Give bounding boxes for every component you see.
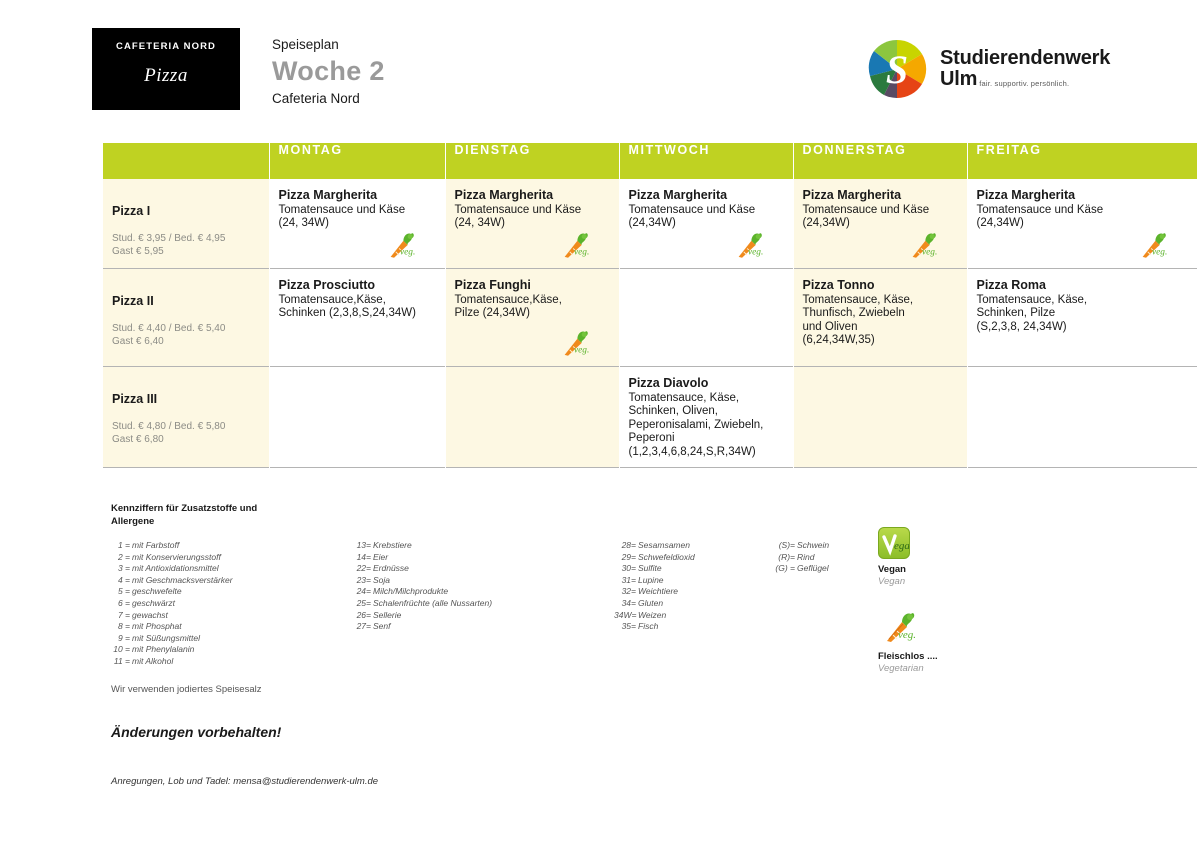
page-title: Woche 2 — [272, 56, 385, 87]
category-price: Stud. € 3,95 / Bed. € 4,95 Gast € 5,95 — [112, 232, 261, 258]
legend-item-label: Geflügel — [797, 563, 829, 573]
legend-item-code: 9 = — [113, 633, 130, 645]
legend-item: (R)=Rind — [773, 552, 829, 564]
dish-desc: Tomatensauce und Käse(24,34W) — [977, 204, 1190, 231]
svg-text:veg.: veg. — [574, 247, 589, 257]
svg-text:veg.: veg. — [400, 247, 415, 257]
legend-item-label: Eier — [373, 552, 388, 562]
page-subtitle: Cafeteria Nord — [272, 90, 385, 108]
legend-item-code: 11 = — [113, 656, 130, 668]
legend-item-label: Weizen — [638, 610, 666, 620]
vegan-key-block: egan Vegan Vegan — [878, 527, 1028, 588]
legend-item-code: 30= — [614, 563, 636, 575]
legend-item-label: Senf — [373, 621, 391, 631]
legend-item-code: 34= — [614, 598, 636, 610]
legend-item-code: 34W= — [614, 610, 636, 622]
legend-item-code: 25= — [354, 598, 371, 610]
legend-item-label: geschwärzt — [132, 598, 175, 608]
legend-item: 29=Schwefeldioxid — [614, 552, 695, 564]
legend-item-code: 4 = — [113, 575, 130, 587]
title-block: Speiseplan Woche 2 Cafeteria Nord — [272, 36, 385, 108]
logo-wordmark: Studierendenwerk Ulm fair. supportiv. pe… — [940, 48, 1110, 90]
legend-column-additives: 1 =mit Farbstoff2 =mit Konservierungssto… — [113, 540, 233, 668]
header-day-mittwoch: MITTWOCH — [619, 143, 793, 179]
price-line-1: Stud. € 4,80 / Bed. € 5,80 — [112, 421, 225, 432]
symbol-key: egan Vegan Vegan veg. Fleischlos .... Ve… — [878, 527, 1028, 695]
legend-item: 28=Sesamsamen — [614, 540, 695, 552]
legend-item-code: 22= — [354, 563, 371, 575]
menu-cell: Pizza Margherita Tomatensauce und Käse(2… — [793, 179, 967, 269]
legend-item-code: 8 = — [113, 621, 130, 633]
legend-item: 24=Milch/Milchprodukte — [354, 586, 492, 598]
legend-item-code: 7 = — [113, 610, 130, 622]
carrot-vegetarian-icon: veg. — [1135, 228, 1169, 262]
legend-item-label: mit Geschmacksverstärker — [132, 575, 233, 585]
legend-item-code: 1 = — [113, 540, 130, 552]
legend-item-code: 13= — [354, 540, 371, 552]
menu-cell — [793, 367, 967, 468]
svg-text:veg.: veg. — [574, 345, 589, 355]
legend-item: 10 =mit Phenylalanin — [113, 644, 233, 656]
legend-item: 31=Lupine — [614, 575, 695, 587]
menu-cell: Pizza Margherita Tomatensauce und Käse(2… — [269, 179, 445, 269]
legend-title: Kennziffern für Zusatzstoffe undAllergen… — [111, 503, 321, 528]
legend-item-label: Gluten — [638, 598, 663, 608]
legend-item-code: (R)= — [773, 552, 795, 564]
carrot-vegetarian-icon: veg. — [905, 228, 939, 262]
menu-cell — [967, 367, 1197, 468]
legend-item-label: Schalenfrüchte (alle Nussarten) — [373, 598, 492, 608]
menu-cell — [619, 269, 793, 367]
legend-item-code: 23= — [354, 575, 371, 587]
weekly-menu-table: MONTAG DIENSTAG MITTWOCH DONNERSTAG FREI… — [103, 143, 1197, 468]
legend-item-label: gewachst — [132, 610, 168, 620]
legend-item-label: mit Konservierungsstoff — [132, 552, 221, 562]
legend-item: 8 =mit Phosphat — [113, 621, 233, 633]
carrot-vegetarian-icon: veg. — [383, 228, 417, 262]
legend-item: 1 =mit Farbstoff — [113, 540, 233, 552]
menu-cell — [269, 367, 445, 468]
price-line-1: Stud. € 3,95 / Bed. € 4,95 — [112, 233, 225, 244]
legend-item: 2 =mit Konservierungsstoff — [113, 552, 233, 564]
legend-item-code: 14= — [354, 552, 371, 564]
legend-item-label: Rind — [797, 552, 814, 562]
brand-kicker: CAFETERIA NORD — [92, 41, 240, 52]
legend-item-label: Weichtiere — [638, 586, 678, 596]
dish-desc: Tomatensauce und Käse(24,34W) — [629, 204, 785, 231]
menu-cell: Pizza Prosciutto Tomatensauce,Käse,Schin… — [269, 269, 445, 367]
legend-item-label: Soja — [373, 575, 390, 585]
legend-item-code: 5 = — [113, 586, 130, 598]
menu-cell: Pizza Margherita Tomatensauce und Käse(2… — [619, 179, 793, 269]
legend-item: 34=Gluten — [614, 598, 695, 610]
svg-text:egan: egan — [894, 540, 909, 552]
dish-desc: Tomatensauce und Käse(24, 34W) — [455, 204, 611, 231]
pre-title: Speiseplan — [272, 36, 385, 54]
legend-item: 25=Schalenfrüchte (alle Nussarten) — [354, 598, 492, 610]
studierendenwerk-logo: S Studierendenwerk Ulm fair. supportiv. … — [866, 38, 1110, 100]
legend-item: 5 =geschwefelte — [113, 586, 233, 598]
dish-desc: Tomatensauce und Käse(24,34W) — [803, 204, 959, 231]
svg-text:veg.: veg. — [898, 629, 916, 641]
header-blank — [103, 143, 269, 179]
dish-name: Pizza Margherita — [455, 188, 611, 203]
legend-item: 7 =gewachst — [113, 610, 233, 622]
legend-item-code: 27= — [354, 621, 371, 633]
legend-item: 4 =mit Geschmacksverstärker — [113, 575, 233, 587]
legend-item-code: 35= — [614, 621, 636, 633]
legend-item-label: mit Alkohol — [132, 656, 173, 666]
menu-cell: Pizza Funghi Tomatensauce,Käse,Pilze (24… — [445, 269, 619, 367]
table-header-row: MONTAG DIENSTAG MITTWOCH DONNERSTAG FREI… — [103, 143, 1197, 179]
category-cell: Pizza III Stud. € 4,80 / Bed. € 5,80 Gas… — [103, 367, 269, 468]
legend-item: 13=Krebstiere — [354, 540, 492, 552]
legend-item-code: 2 = — [113, 552, 130, 564]
legend-item-code: (G) = — [773, 563, 795, 575]
legend-item-label: Schwein — [797, 540, 829, 550]
legend-item-code: 10 = — [113, 644, 130, 656]
carrot-vegetarian-icon: veg. — [557, 228, 591, 262]
vegan-icon: egan — [878, 527, 910, 559]
note-changes-reserved: Änderungen vorbehalten! — [111, 724, 811, 740]
category-cell: Pizza II Stud. € 4,40 / Bed. € 5,40 Gast… — [103, 269, 269, 367]
header-day-freitag: FREITAG — [967, 143, 1197, 179]
legend-item-label: Krebstiere — [373, 540, 412, 550]
legend-item: 27=Senf — [354, 621, 492, 633]
carrot-vegetarian-icon: veg. — [731, 228, 765, 262]
legend-column-allergens-b: 28=Sesamsamen29=Schwefeldioxid30=Sulfite… — [614, 540, 695, 633]
vegetarian-key-block: veg. Fleischlos .... Vegetarian — [878, 608, 1028, 675]
legend-item: 30=Sulfite — [614, 563, 695, 575]
logo-line-2: Ulm — [940, 69, 977, 90]
legend-item-label: Sellerie — [373, 610, 401, 620]
legend-item: 14=Eier — [354, 552, 492, 564]
page-header: CAFETERIA NORD Pizza Speiseplan Woche 2 … — [0, 0, 1200, 135]
legend-item-label: mit Phenylalanin — [132, 644, 194, 654]
dish-name: Pizza Margherita — [279, 188, 437, 203]
menu-cell: Pizza Tonno Tomatensauce, Käse,Thunfisch… — [793, 269, 967, 367]
price-line-2: Gast € 6,40 — [112, 336, 164, 347]
logo-tagline: fair. supportiv. persönlich. — [979, 79, 1069, 90]
legend-item-label: Schwefeldioxid — [638, 552, 695, 562]
legend-item-code: 32= — [614, 586, 636, 598]
menu-cell — [445, 367, 619, 468]
legend-item: 32=Weichtiere — [614, 586, 695, 598]
svg-text:veg.: veg. — [1152, 247, 1167, 257]
legend-item: (S)=Schwein — [773, 540, 829, 552]
legend-item-label: Lupine — [638, 575, 664, 585]
legend-item: 11 =mit Alkohol — [113, 656, 233, 668]
dish-name: Pizza Margherita — [977, 188, 1190, 203]
dish-name: Pizza Diavolo — [629, 376, 785, 391]
category-name: Pizza II — [112, 294, 261, 308]
legend-item-code: 28= — [614, 540, 636, 552]
header-day-donnerstag: DONNERSTAG — [793, 143, 967, 179]
legend-column-meat-codes: (S)=Schwein(R)=Rind(G) =Geflügel — [773, 540, 829, 575]
legend-item-code: 6 = — [113, 598, 130, 610]
vegan-caption-en: Vegan — [878, 576, 1028, 588]
dish-name: Pizza Tonno — [803, 278, 959, 293]
svg-text:S: S — [886, 47, 908, 92]
legend-item: 3 =mit Antioxidationsmittel — [113, 563, 233, 575]
menu-cell: Pizza Margherita Tomatensauce und Käse(2… — [445, 179, 619, 269]
legend-item: 9 =mit Süßungsmittel — [113, 633, 233, 645]
price-line-2: Gast € 6,80 — [112, 434, 164, 445]
vegetarian-caption-en: Vegetarian — [878, 663, 1028, 675]
legend-item: 35=Fisch — [614, 621, 695, 633]
brand-name: Pizza — [92, 65, 240, 87]
dish-name: Pizza Margherita — [629, 188, 785, 203]
legend-item-label: Sulfite — [638, 563, 662, 573]
legend-item-label: mit Süßungsmittel — [132, 633, 200, 643]
logo-line-1: Studierendenwerk — [940, 48, 1110, 69]
legend-item-label: mit Antioxidationsmittel — [132, 563, 219, 573]
category-price: Stud. € 4,80 / Bed. € 5,80 Gast € 6,80 — [112, 420, 261, 446]
footer-notes: Wir verwenden jodiertes Speisesalz Änder… — [111, 684, 811, 787]
legend-item: 6 =geschwärzt — [113, 598, 233, 610]
category-name: Pizza III — [112, 392, 261, 406]
legend-item-label: Fisch — [638, 621, 658, 631]
legend-item-label: Erdnüsse — [373, 563, 409, 573]
note-iodised-salt: Wir verwenden jodiertes Speisesalz — [111, 684, 811, 695]
menu-cell: Pizza Roma Tomatensauce, Käse,Schinken, … — [967, 269, 1197, 367]
menu-cell: Pizza Margherita Tomatensauce und Käse(2… — [967, 179, 1197, 269]
category-name: Pizza I — [112, 204, 261, 218]
legend-item: 26=Sellerie — [354, 610, 492, 622]
legend-item-label: Milch/Milchprodukte — [373, 586, 448, 596]
price-line-1: Stud. € 4,40 / Bed. € 5,40 — [112, 323, 225, 334]
legend-item: 22=Erdnüsse — [354, 563, 492, 575]
dish-desc: Tomatensauce, Käse,Thunfisch, Zwiebelnun… — [803, 294, 959, 348]
legend-item-label: mit Phosphat — [132, 621, 182, 631]
carrot-vegetarian-icon: veg. — [557, 326, 591, 360]
table-row: Pizza I Stud. € 3,95 / Bed. € 4,95 Gast … — [103, 179, 1197, 269]
table-row: Pizza III Stud. € 4,80 / Bed. € 5,80 Gas… — [103, 367, 1197, 468]
dish-desc: Tomatensauce,Käse,Schinken (2,3,8,S,24,3… — [279, 294, 437, 321]
header-day-montag: MONTAG — [269, 143, 445, 179]
header-day-dienstag: DIENSTAG — [445, 143, 619, 179]
category-price: Stud. € 4,40 / Bed. € 5,40 Gast € 6,40 — [112, 322, 261, 348]
legend-item-code: 3 = — [113, 563, 130, 575]
dish-desc: Tomatensauce, Käse,Schinken, Pilze(S,2,3… — [977, 294, 1190, 335]
svg-text:veg.: veg. — [748, 247, 763, 257]
studierendenwerk-logo-icon: S — [866, 38, 928, 100]
legend-item-code: 26= — [354, 610, 371, 622]
legend-item-label: Sesamsamen — [638, 540, 690, 550]
table-row: Pizza II Stud. € 4,40 / Bed. € 5,40 Gast… — [103, 269, 1197, 367]
dish-name: Pizza Prosciutto — [279, 278, 437, 293]
legend-item-code: 31= — [614, 575, 636, 587]
dish-name: Pizza Margherita — [803, 188, 959, 203]
carrot-vegetarian-icon: veg. — [878, 608, 918, 646]
dish-desc: Tomatensauce, Käse,Schinken, Oliven,Pepe… — [629, 392, 785, 460]
cafeteria-brand-box: CAFETERIA NORD Pizza — [92, 28, 240, 110]
price-line-2: Gast € 5,95 — [112, 246, 164, 257]
legend-item: 34W=Weizen — [614, 610, 695, 622]
legend-item-label: geschwefelte — [132, 586, 182, 596]
legend-item-label: mit Farbstoff — [132, 540, 179, 550]
dish-desc: Tomatensauce,Käse,Pilze (24,34W) — [455, 294, 611, 321]
svg-text:veg.: veg. — [922, 247, 937, 257]
legend-item-code: 29= — [614, 552, 636, 564]
vegetarian-caption: Fleischlos .... — [878, 651, 1028, 663]
legend-item-code: 24= — [354, 586, 371, 598]
legend-item-code: (S)= — [773, 540, 795, 552]
legend-item: (G) =Geflügel — [773, 563, 829, 575]
category-cell: Pizza I Stud. € 3,95 / Bed. € 4,95 Gast … — [103, 179, 269, 269]
legend-column-allergens-a: 13=Krebstiere14=Eier22=Erdnüsse23=Soja24… — [354, 540, 492, 633]
menu-cell: Pizza Diavolo Tomatensauce, Käse,Schinke… — [619, 367, 793, 468]
dish-name: Pizza Funghi — [455, 278, 611, 293]
dish-desc: Tomatensauce und Käse(24, 34W) — [279, 204, 437, 231]
legend-item: 23=Soja — [354, 575, 492, 587]
note-contact-email: Anregungen, Lob und Tadel: mensa@studier… — [111, 776, 811, 787]
dish-name: Pizza Roma — [977, 278, 1190, 293]
vegan-caption: Vegan — [878, 564, 1028, 576]
